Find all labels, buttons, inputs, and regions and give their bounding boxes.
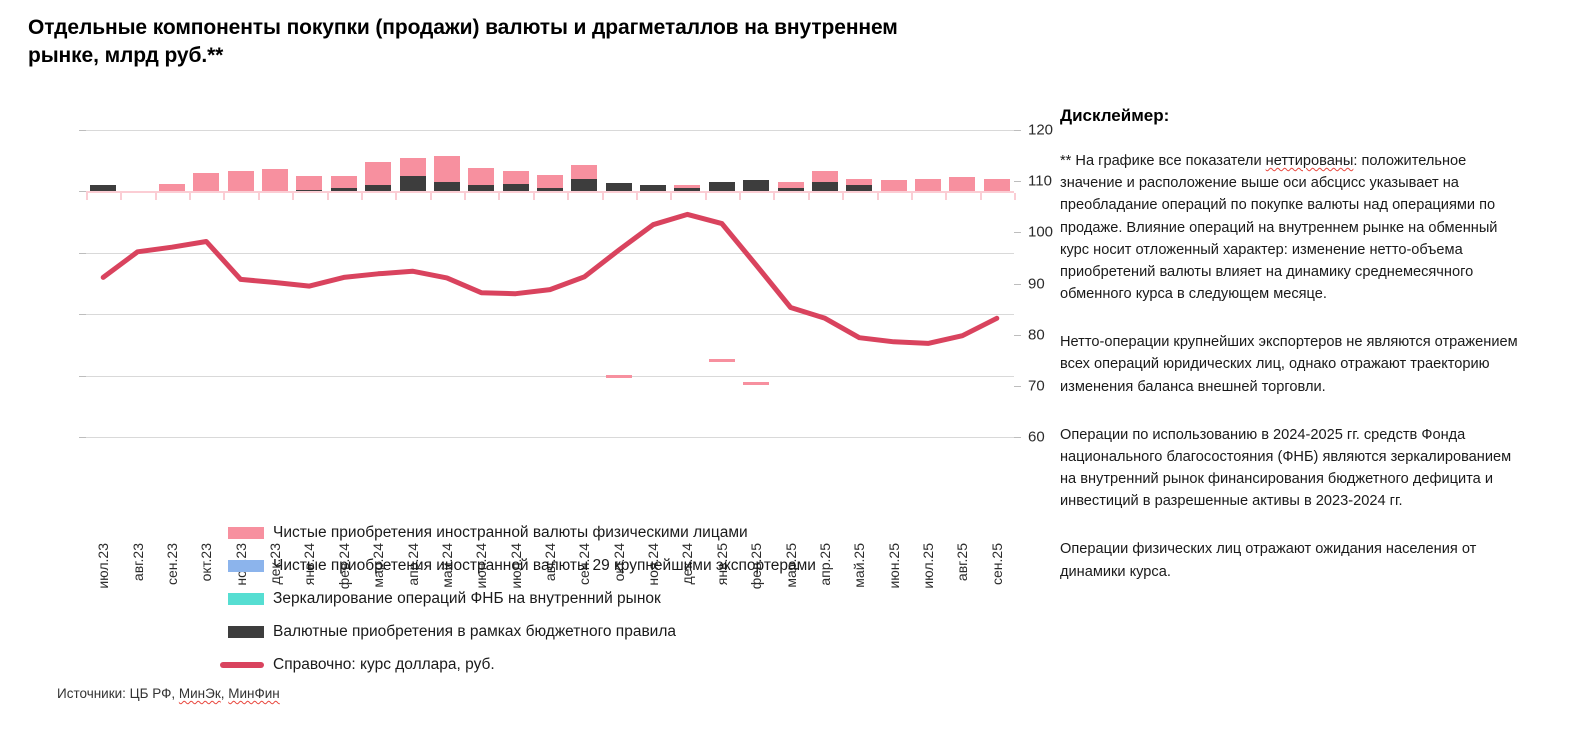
y-tick-mark-right (1014, 181, 1021, 182)
bar-column[interactable] (881, 130, 907, 437)
bar-column[interactable] (125, 130, 151, 437)
x-axis-tick (533, 193, 535, 200)
bar-segment-individuals (915, 179, 941, 192)
legend-label: Чистые приобретения иностранной валюты ф… (273, 524, 748, 542)
disclaimer-paragraph-2: Нетто-операции крупнейших экспортеров не… (1060, 331, 1530, 398)
disclaimer-paragraph-3: Операции по использованию в 2024-2025 гг… (1060, 424, 1530, 513)
source-minec: МинЭк (179, 686, 221, 701)
bar-segment-individuals (434, 156, 460, 182)
disclaimer-panel: Дисклеймер: ** На графике все показатели… (1060, 106, 1530, 609)
x-axis-tick (327, 193, 329, 200)
x-axis-tick (155, 193, 157, 200)
disclaimer-heading: Дисклеймер: (1060, 106, 1530, 126)
x-axis-tick (498, 193, 500, 200)
x-axis-tick (602, 193, 604, 200)
y-tick-mark-left (79, 376, 86, 377)
bar-column[interactable] (331, 130, 357, 437)
bar-segment-individuals (571, 165, 597, 179)
bar-column[interactable] (468, 130, 494, 437)
bar-column[interactable] (400, 130, 426, 437)
y-tick-mark-left (79, 253, 86, 254)
x-axis-tick (808, 193, 810, 200)
bar-segment-individuals (365, 162, 391, 185)
legend-item[interactable]: Чистые приобретения иностранной валюты ф… (228, 516, 928, 549)
y-tick-mark-left (79, 314, 86, 315)
legend-swatch-icon (220, 662, 264, 668)
x-axis-tick (636, 193, 638, 200)
bar-segment-individuals (812, 171, 838, 183)
bar-column[interactable] (193, 130, 219, 437)
bar-segment-individuals (262, 169, 288, 191)
x-axis-label: сен.25 (989, 543, 1005, 585)
bar-column[interactable] (949, 130, 975, 437)
y-tick-label-right: 60 (1028, 429, 1045, 446)
y-tick-mark-right (1014, 335, 1021, 336)
legend-label: Чистые приобретения иностранной валюты 2… (273, 557, 816, 575)
x-axis-tick (842, 193, 844, 200)
bar-segment-individuals (159, 184, 185, 191)
x-axis-label: авг.25 (954, 543, 970, 581)
y-tick-mark-right (1014, 386, 1021, 387)
x-axis-tick (877, 193, 879, 200)
x-axis-label: июл.23 (95, 543, 111, 589)
bar-segment-individuals (674, 185, 700, 188)
disclaimer-paragraph-1: ** На графике все показатели неттированы… (1060, 150, 1530, 305)
bar-segment-budget_rule (606, 183, 632, 191)
bar-segment-budget_rule (434, 182, 460, 191)
chart-page: Отдельные компоненты покупки (продажи) в… (0, 0, 1573, 732)
bar-segment-individuals (949, 177, 975, 192)
legend-label: Справочно: курс доллара, руб. (273, 656, 495, 674)
x-axis-tick (292, 193, 294, 200)
disclaimer-p1-after: : положительное значение и расположение … (1060, 153, 1497, 302)
bar-column[interactable] (434, 130, 460, 437)
bar-segment-individuals (778, 182, 804, 188)
x-axis-tick (86, 193, 88, 200)
bar-segment-individuals (709, 359, 735, 362)
y-tick-label-right: 80 (1028, 326, 1045, 343)
y-tick-label-right: 100 (1028, 224, 1053, 241)
bar-column[interactable] (503, 130, 529, 437)
x-axis-tick (361, 193, 363, 200)
legend-item[interactable]: Зеркалирование операций ФНБ на внутренни… (228, 582, 928, 615)
legend-swatch-icon (228, 593, 264, 605)
bar-segment-individuals (846, 179, 872, 185)
disclaimer-p1-misspelled: неттированы (1266, 153, 1354, 169)
x-axis-tick (773, 193, 775, 200)
bar-column[interactable] (640, 130, 666, 437)
bar-column[interactable] (537, 130, 563, 437)
x-axis-tick (945, 193, 947, 200)
bar-column[interactable] (296, 130, 322, 437)
source-note: Источники: ЦБ РФ, МинЭк, МинФин (57, 686, 280, 701)
legend-item[interactable]: Валютные приобретения в рамках бюджетног… (228, 615, 928, 648)
source-minfin: МинФин (228, 686, 280, 701)
chart-legend: Чистые приобретения иностранной валюты ф… (228, 516, 928, 681)
x-axis-tick (430, 193, 432, 200)
bar-segment-budget_rule (640, 185, 666, 192)
bar-segment-budget_rule (709, 182, 735, 191)
bar-segment-individuals (881, 180, 907, 191)
bar-segment-individuals (743, 382, 769, 385)
disclaimer-p1-before: ** На графике все показатели (1060, 153, 1266, 169)
y-tick-label-right: 90 (1028, 275, 1045, 292)
x-axis-label: окт.23 (198, 543, 214, 581)
bar-column[interactable] (743, 130, 769, 437)
page-title: Отдельные компоненты покупки (продажи) в… (28, 14, 928, 70)
bar-segment-individuals (984, 179, 1010, 192)
legend-item[interactable]: Справочно: курс доллара, руб. (228, 648, 928, 681)
x-axis-tick (1014, 193, 1016, 200)
bar-segment-budget_rule (743, 180, 769, 191)
bar-column[interactable] (228, 130, 254, 437)
bar-column[interactable] (365, 130, 391, 437)
x-axis-tick (189, 193, 191, 200)
y-tick-mark-left (79, 191, 86, 192)
x-axis-tick (223, 193, 225, 200)
legend-swatch-icon (228, 626, 264, 638)
source-prefix: Источники: ЦБ РФ, (57, 686, 179, 701)
bar-column[interactable] (709, 130, 735, 437)
y-tick-label-right: 120 (1028, 122, 1053, 139)
x-axis-tick (739, 193, 741, 200)
plot-area (86, 130, 1014, 437)
y-tick-mark-left (79, 130, 86, 131)
y-tick-mark-right (1014, 284, 1021, 285)
bar-segment-individuals (193, 173, 219, 191)
x-axis-tick (258, 193, 260, 200)
disclaimer-paragraph-4: Операции физических лиц отражают ожидани… (1060, 538, 1530, 582)
bar-segment-budget_rule (571, 179, 597, 191)
y-tick-mark-right (1014, 232, 1021, 233)
legend-item[interactable]: Чистые приобретения иностранной валюты 2… (228, 549, 928, 582)
bar-segment-individuals (228, 171, 254, 192)
bar-column[interactable] (984, 130, 1010, 437)
legend-label: Валютные приобретения в рамках бюджетног… (273, 623, 676, 641)
x-axis-tick (464, 193, 466, 200)
bar-segment-budget_rule (812, 182, 838, 191)
chart-container: 5000-500-1 000-1 500-2 000 1201101009080… (0, 100, 1045, 500)
x-axis-label: сен.23 (164, 543, 180, 585)
bar-segment-individuals (296, 176, 322, 190)
bar-column[interactable] (846, 130, 872, 437)
bar-segment-individuals (468, 168, 494, 185)
x-axis-tick (670, 193, 672, 200)
bar-column[interactable] (915, 130, 941, 437)
y-tick-mark-left (79, 437, 86, 438)
bar-column[interactable] (262, 130, 288, 437)
x-axis-tick (911, 193, 913, 200)
x-axis-label: авг.23 (130, 543, 146, 581)
x-axis-tick (705, 193, 707, 200)
gridline (86, 437, 1014, 438)
bar-segment-individuals (503, 171, 529, 185)
bar-segment-individuals (400, 158, 426, 176)
x-axis-tick (120, 193, 122, 200)
x-axis-tick (980, 193, 982, 200)
legend-label: Зеркалирование операций ФНБ на внутренни… (273, 590, 661, 608)
bar-segment-budget_rule (503, 184, 529, 191)
bar-column[interactable] (159, 130, 185, 437)
bar-segment-budget_rule (400, 176, 426, 191)
y-tick-mark-right (1014, 130, 1021, 131)
x-axis-tick (395, 193, 397, 200)
bar-column[interactable] (674, 130, 700, 437)
bar-column[interactable] (812, 130, 838, 437)
bar-column[interactable] (90, 130, 116, 437)
bar-segment-individuals (606, 375, 632, 378)
y-tick-label-right: 110 (1028, 173, 1052, 190)
bar-segment-individuals (537, 175, 563, 188)
bar-column[interactable] (571, 130, 597, 437)
bar-column[interactable] (606, 130, 632, 437)
bar-segment-individuals (331, 176, 357, 188)
legend-swatch-icon (228, 527, 264, 539)
bar-segment-budget_rule (365, 185, 391, 192)
x-axis-tick (567, 193, 569, 200)
y-tick-label-right: 70 (1028, 377, 1045, 394)
y-tick-mark-right (1014, 437, 1021, 438)
bar-column[interactable] (778, 130, 804, 437)
legend-swatch-icon (228, 560, 264, 572)
